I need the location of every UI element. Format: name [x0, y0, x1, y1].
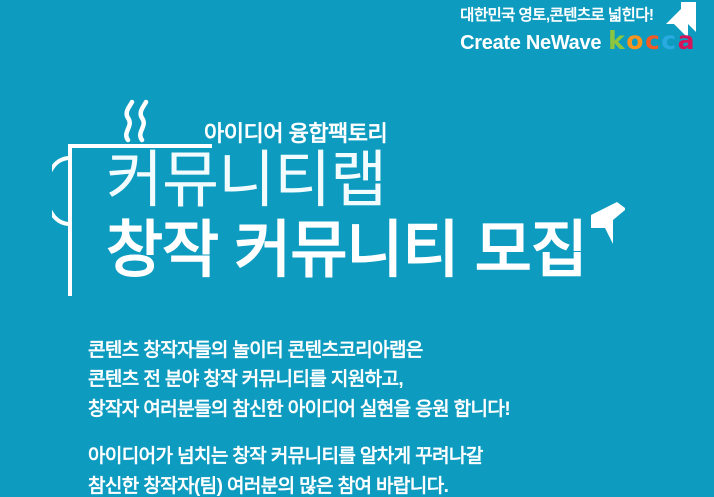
- body-paragraph-2: 아이디어가 넘치는 창작 커뮤니티를 알차게 꾸려나갈 참신한 창작자(팀) 여…: [88, 442, 688, 497]
- kocca-letter-o: o: [626, 28, 645, 53]
- headline-eyebrow: 아이디어 융합팩토리: [204, 116, 387, 148]
- body-line: 아이디어가 넘치는 창작 커뮤니티를 알차게 꾸려나갈: [88, 442, 688, 471]
- kocca-letter-k: k: [608, 28, 626, 53]
- kocca-brand-wordmark: kocca: [608, 28, 696, 53]
- logo-wordmark: Create NeWave kocca: [460, 28, 696, 53]
- kocca-logo-lockup: 대한민국 영토,콘텐츠로 넓힌다! Create NeWave kocca: [460, 8, 696, 53]
- body-line: 콘텐츠 전 분야 창작 커뮤니티를 지원하고,: [88, 365, 688, 394]
- logo-tagline: 대한민국 영토,콘텐츠로 넓힌다!: [460, 8, 696, 24]
- body-copy: 콘텐츠 창작자들의 놀이터 콘텐츠코리아랩은 콘텐츠 전 분야 창작 커뮤니티를…: [88, 336, 688, 497]
- headline-line-2: 창작 커뮤니티 모집: [106, 220, 587, 282]
- body-line: 창작자 여러분들의 참신한 아이디어 실현을 응원 합니다!: [88, 395, 688, 424]
- body-line: 참신한 창작자(팀) 여러분의 많은 참여 바랍니다.: [88, 472, 688, 497]
- logo-create-newave-text: Create NeWave: [460, 33, 601, 53]
- body-line: 콘텐츠 창작자들의 놀이터 콘텐츠코리아랩은: [88, 336, 688, 365]
- kocca-letter-a: a: [678, 28, 696, 53]
- promo-poster: 대한민국 영토,콘텐츠로 넓힌다! Create NeWave kocca: [0, 0, 714, 497]
- kocca-letter-c1: c: [645, 28, 661, 53]
- body-paragraph-1: 콘텐츠 창작자들의 놀이터 콘텐츠코리아랩은 콘텐츠 전 분야 창작 커뮤니티를…: [88, 336, 688, 424]
- kocca-letter-c2: c: [661, 28, 677, 53]
- quote-pennant-icon: [591, 202, 625, 244]
- headline-line-1: 커뮤니티랩: [106, 150, 386, 212]
